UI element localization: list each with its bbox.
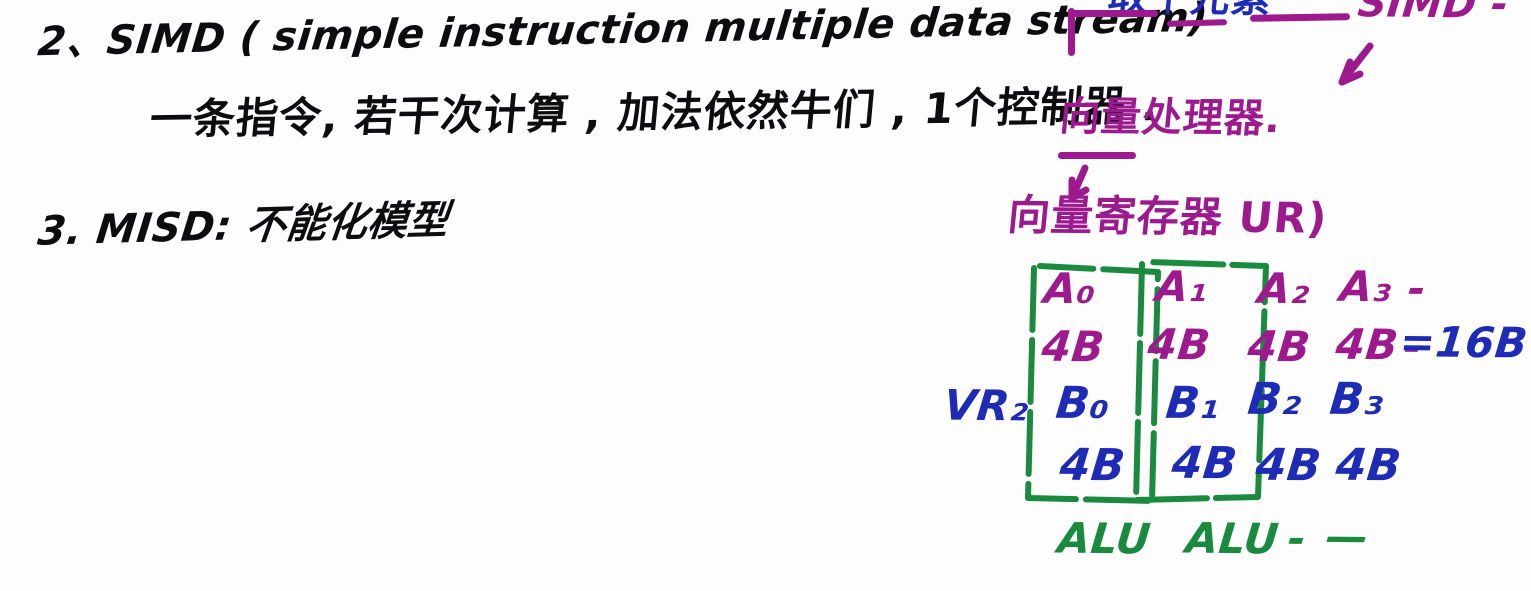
cell-b3-size: 4B — [1334, 444, 1403, 489]
handwritten-note-page: 2、SIMD ( simple instruction multiple dat… — [0, 0, 1531, 591]
annotation-vector-processor: 向量处理器. — [1058, 97, 1283, 139]
cell-b1: B₁ — [1164, 382, 1222, 427]
note-line-3: 3. MISD: 不能化模型 — [36, 200, 451, 252]
alu-line: — — [1324, 516, 1371, 558]
cell-a0: A₀ — [1042, 268, 1098, 311]
alu-0: ALU — [1056, 518, 1153, 561]
total-size-label: =16B - — [1398, 321, 1531, 365]
cell-a-dash: - — [1406, 268, 1428, 310]
cell-b3: B₃ — [1328, 378, 1386, 423]
alu-1: ALU — [1184, 518, 1281, 561]
cell-b0-size: 4B — [1058, 444, 1127, 489]
cell-a2-size: 4B — [1246, 326, 1312, 369]
cell-b2-size: 4B — [1254, 444, 1323, 489]
cell-a3: A₃ — [1338, 266, 1394, 309]
cell-a0-size: 4B — [1040, 326, 1106, 369]
annotation-vector-register: 向量寄存器 UR) — [1006, 194, 1329, 239]
cell-a3-size: 4B — [1334, 324, 1400, 367]
cell-b2: B₂ — [1246, 378, 1304, 423]
vr-label: VR₂ — [942, 385, 1031, 428]
cell-a1-size: 4B — [1146, 324, 1212, 367]
cell-a2: A₂ — [1256, 268, 1312, 311]
cell-b0: B₀ — [1054, 382, 1112, 427]
alu-dash: - — [1286, 518, 1308, 560]
note-line-2: 一条指令, 若干次计算 , 加法依然牛们 , 1个控制器 . — [148, 85, 1161, 141]
note-line-1: 2、SIMD ( simple instruction multiple dat… — [36, 0, 1210, 62]
cell-b1-size: 4B — [1170, 442, 1239, 487]
cell-a1: A₁ — [1154, 266, 1210, 309]
annotation-simd-label: SIMD - — [1356, 0, 1510, 25]
